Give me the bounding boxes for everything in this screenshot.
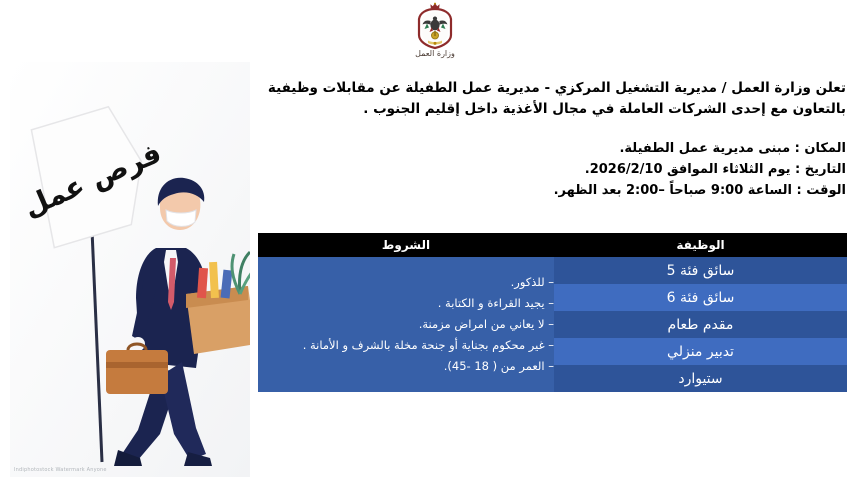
jobs-table: الوظيفة الشروط سائق فئة 5 – للذكور. – يج…	[258, 233, 847, 392]
condition-item: – لا يعاني من امراض مزمنة.	[258, 314, 554, 335]
condition-item: – غير محكوم بجناية أو جنحة مخلة بالشرف و…	[258, 335, 554, 356]
announcement-page: وزارة العمل تعلن وزارة العمل / مديرية ال…	[0, 0, 860, 484]
header-job: الوظيفة	[554, 233, 847, 257]
job-title: سائق فئة 6	[554, 284, 847, 311]
detail-date: التاريخ : يوم الثلاثاء الموافق 2026/2/10…	[446, 159, 846, 180]
watermark-text: Indiphotostock Watermark Anyone	[14, 467, 107, 473]
job-title: سائق فئة 5	[554, 257, 847, 284]
job-title: تدبير منزلي	[554, 338, 847, 365]
jordan-coat-of-arms-icon	[414, 2, 456, 50]
detail-time: الوقت : الساعة 9:00 صباحاً –2:00 بعد الظ…	[446, 180, 846, 201]
table-header-row: الوظيفة الشروط	[258, 233, 847, 257]
header-emblem-block: وزارة العمل	[398, 2, 472, 58]
ministry-caption: وزارة العمل	[398, 49, 472, 58]
condition-item: – يجيد القراءة و الكتابة .	[258, 293, 554, 314]
table-row: سائق فئة 5 – للذكور. – يجيد القراءة و ال…	[258, 257, 847, 284]
businessman-with-sign-icon: فرص عمل	[10, 62, 250, 477]
condition-item: – للذكور.	[258, 272, 554, 293]
condition-item: – العمر من ( 18 -45).	[258, 356, 554, 377]
conditions-cell: – للذكور. – يجيد القراءة و الكتابة . – ل…	[258, 257, 554, 392]
detail-location: المكان : مبنى مديرية عمل الطفيلة.	[446, 138, 846, 159]
event-details: المكان : مبنى مديرية عمل الطفيلة. التاري…	[446, 138, 846, 201]
job-title: مقدم طعام	[554, 311, 847, 338]
job-opportunities-illustration: فرص عمل	[10, 62, 250, 477]
job-title: ستيوارد	[554, 365, 847, 392]
header-conditions: الشروط	[258, 233, 554, 257]
announcement-headline: تعلن وزارة العمل / مديرية التشغيل المركز…	[266, 78, 846, 120]
